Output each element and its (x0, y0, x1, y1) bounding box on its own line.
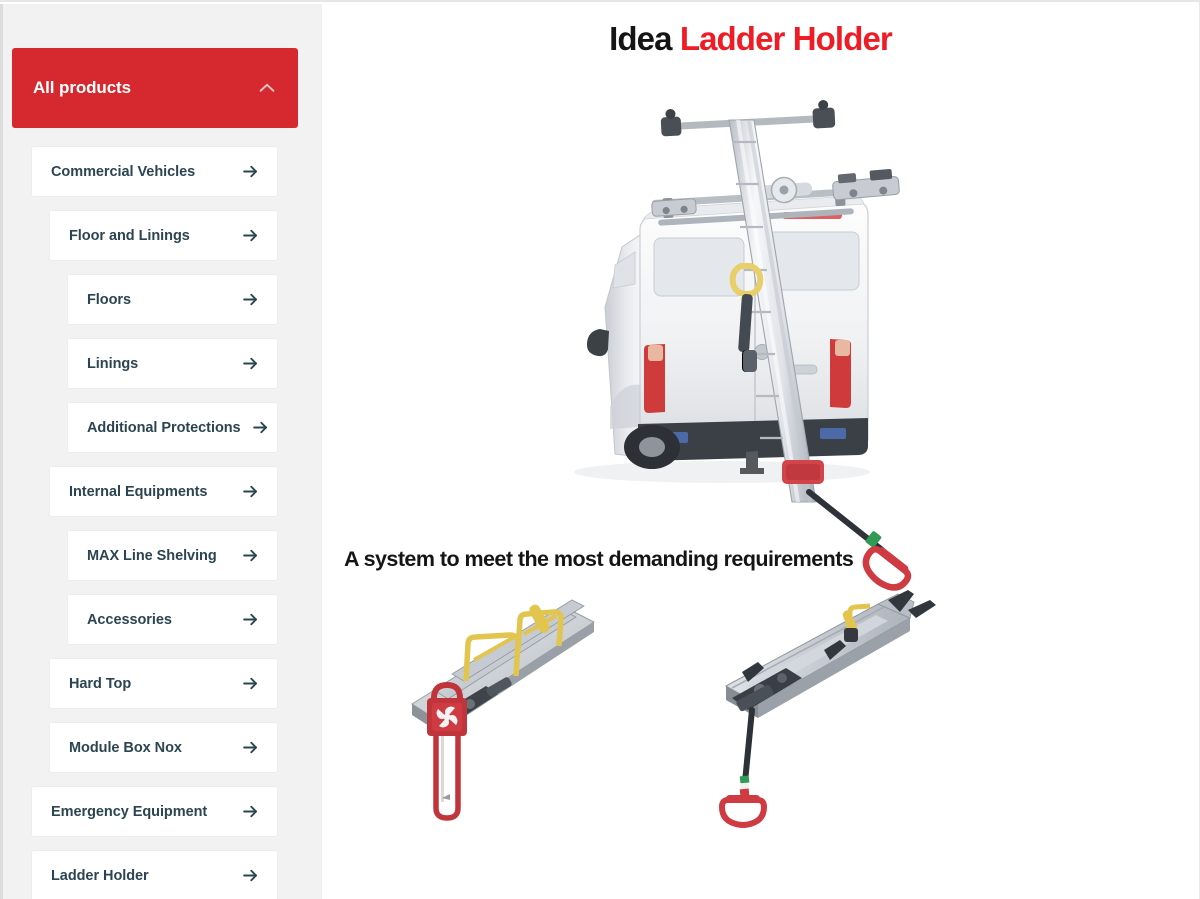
arrow-right-icon (241, 290, 260, 309)
sidebar-item-internal-equipments[interactable]: Internal Equipments (49, 466, 278, 517)
sidebar-item-label: Linings (87, 356, 138, 372)
arrow-right-icon (241, 802, 260, 821)
sidebar-item-label: Emergency Equipment (51, 804, 207, 820)
product-illustration-1 (394, 586, 654, 831)
page-root: All products Commercial VehiclesFloor an… (0, 0, 1200, 899)
sidebar-item-label: Hard Top (69, 676, 131, 692)
hero-illustration (322, 62, 1199, 537)
arrow-right-icon (241, 226, 260, 245)
page-title-primary: Idea (609, 20, 671, 57)
product-illustration-2 (702, 586, 962, 831)
sidebar-item-accessories[interactable]: Accessories (67, 594, 278, 645)
sidebar-item-hard-top[interactable]: Hard Top (49, 658, 278, 709)
product-category-nav: Commercial VehiclesFloor and LiningsFloo… (3, 146, 321, 899)
arrow-right-icon (241, 354, 260, 373)
sidebar-item-label: Commercial Vehicles (51, 164, 195, 180)
arrow-right-icon (241, 610, 260, 629)
arrow-right-icon (241, 674, 260, 693)
sidebar-item-label: Floor and Linings (69, 228, 190, 244)
sidebar-item-emergency-equipment[interactable]: Emergency Equipment (31, 786, 278, 837)
sidebar-item-ladder-holder[interactable]: Ladder Holder (31, 850, 278, 899)
sidebar-item-floor-and-linings[interactable]: Floor and Linings (49, 210, 278, 261)
sidebar-item-module-box-nox[interactable]: Module Box Nox (49, 722, 278, 773)
sidebar-item-label: Additional Protections (87, 420, 241, 436)
sidebar-item-label: Floors (87, 292, 131, 308)
sidebar-inner: All products Commercial VehiclesFloor an… (3, 4, 321, 899)
page-title: Idea Ladder Holder (322, 20, 1199, 58)
sidebar-item-label: Module Box Nox (69, 740, 182, 756)
all-products-label: All products (33, 78, 131, 98)
sidebar-item-label: Accessories (87, 612, 172, 628)
arrow-right-icon (241, 866, 260, 885)
sidebar-item-additional-protections[interactable]: Additional Protections (67, 402, 278, 453)
product-image-ladder-holder-red-handle (394, 586, 654, 831)
sidebar-item-label: MAX Line Shelving (87, 548, 217, 564)
product-image-ladder-holder-pull-rod (702, 586, 962, 831)
hero-image-van-ladder-holder (322, 62, 1199, 537)
sidebar-item-label: Internal Equipments (69, 484, 207, 500)
arrow-right-icon (251, 418, 270, 437)
arrow-right-icon (241, 482, 260, 501)
product-gallery (322, 586, 1199, 831)
main-content: Idea Ladder Holder (322, 4, 1199, 899)
sidebar-header-all-products[interactable]: All products (12, 48, 298, 128)
arrow-right-icon (241, 546, 260, 565)
page-title-accent: Ladder Holder (680, 20, 892, 57)
arrow-right-icon (241, 738, 260, 757)
arrow-right-icon (241, 162, 260, 181)
sidebar-item-label: Ladder Holder (51, 868, 149, 884)
sidebar: All products Commercial VehiclesFloor an… (0, 4, 322, 899)
sidebar-item-floors[interactable]: Floors (67, 274, 278, 325)
sidebar-item-commercial-vehicles[interactable]: Commercial Vehicles (31, 146, 278, 197)
chevron-up-icon[interactable] (256, 77, 278, 99)
sidebar-item-linings[interactable]: Linings (67, 338, 278, 389)
sidebar-item-max-line-shelving[interactable]: MAX Line Shelving (67, 530, 278, 581)
section-heading: A system to meet the most demanding requ… (344, 547, 1199, 572)
